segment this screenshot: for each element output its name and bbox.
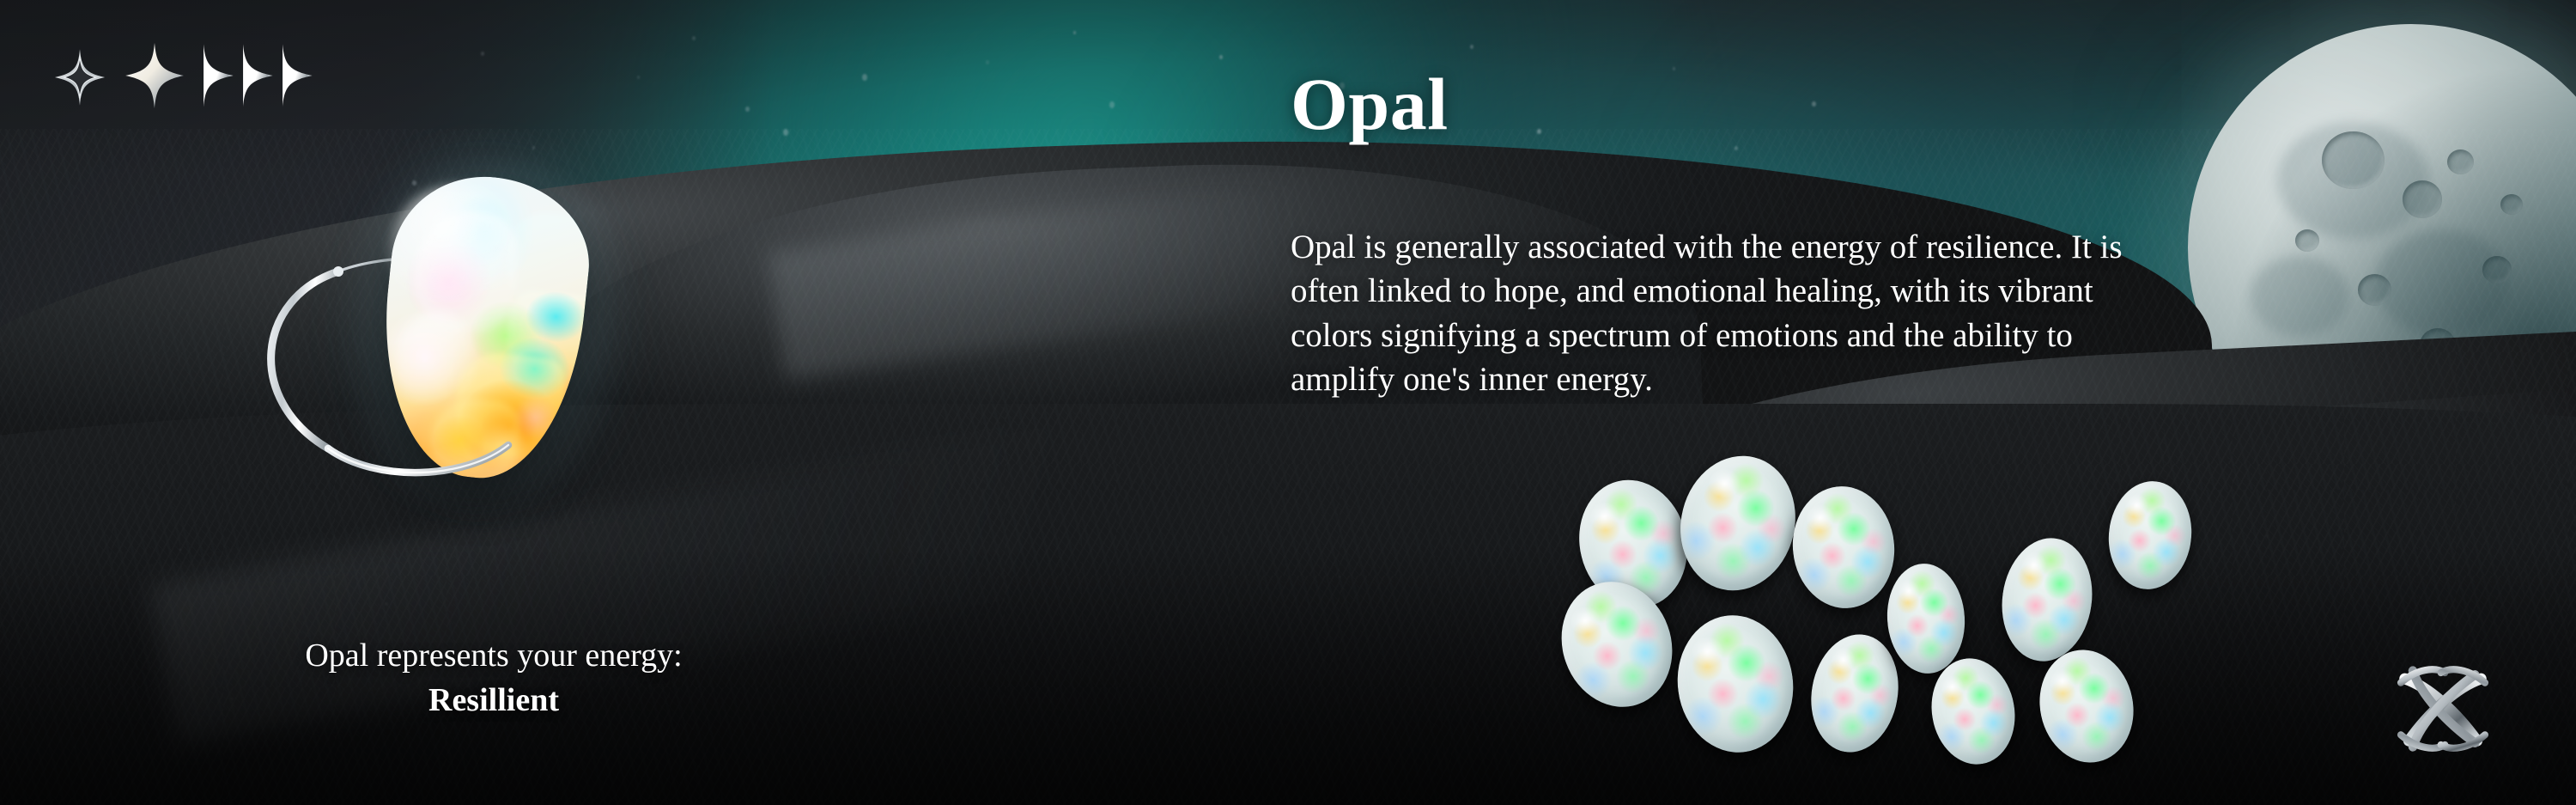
opal-cabochon [1802, 627, 1907, 759]
page-title: Opal [1291, 67, 1449, 141]
opal-cabochon [1669, 607, 1802, 759]
opal-cabochon [1994, 532, 2099, 667]
opal-cabochon [1667, 443, 1809, 602]
energy-caption: Opal represents your energy: Resillient [0, 636, 987, 724]
four-point-star-outline-icon [53, 48, 106, 107]
half-star-arrow-icon-1 [197, 43, 239, 108]
sparkle-decoration-group [53, 26, 448, 129]
half-star-arrow-icon-3 [276, 43, 318, 108]
opal-cabochon [1884, 561, 1969, 676]
opal-cabochon [1787, 481, 1900, 613]
interlaced-knot-logo[interactable] [2383, 649, 2503, 769]
energy-caption-line2: Resillient [0, 677, 987, 724]
opal-banner: Opal Opal is generally associated with t… [0, 0, 2576, 805]
opal-stone-with-bracelet [283, 172, 678, 533]
four-point-star-solid-icon [124, 41, 185, 110]
opal-cabochon-cluster [1563, 455, 2181, 790]
energy-caption-line1: Opal represents your energy: [0, 636, 987, 677]
description-paragraph: Opal is generally associated with the en… [1291, 225, 2158, 402]
half-star-arrow-icon-2 [237, 43, 278, 108]
